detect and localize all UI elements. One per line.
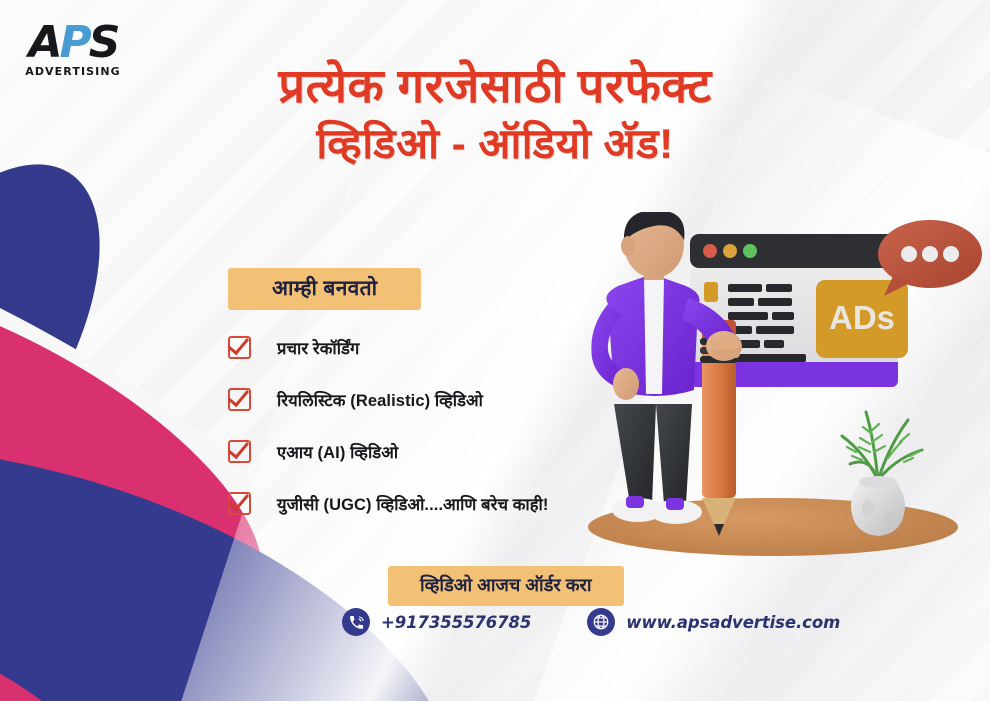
list-item: प्रचार रेकॉर्डिंग xyxy=(228,334,608,360)
offer-badge: आम्ही बनवतो xyxy=(228,268,421,310)
illustration-3d-scene: ADs xyxy=(578,212,990,552)
feature-label: रियलिस्टिक (Realistic) व्हिडिओ xyxy=(277,388,483,411)
ads-panel-label: ADs xyxy=(829,299,895,336)
logo-wordmark: APS xyxy=(18,22,128,64)
contact-website[interactable]: www.apsadvertise.com xyxy=(587,608,840,636)
logo-letter-p: P xyxy=(60,17,89,68)
poster-canvas: APS ADVERTISING प्रत्येक गरजेसाठी परफेक्… xyxy=(0,0,990,701)
aps-logo: APS ADVERTISING xyxy=(18,22,128,78)
feature-label: एआय (AI) व्हिडिओ xyxy=(277,440,398,463)
offer-block: आम्ही बनवतो प्रचार रेकॉर्डिंग रियलिस्टिक… xyxy=(228,268,608,542)
list-item: युजीसी (UGC) व्हिडिओ....आणि बरेच काही! xyxy=(228,490,608,516)
order-now-button[interactable]: व्हिडिओ आजच ऑर्डर करा xyxy=(388,566,624,606)
feature-label: युजीसी (UGC) व्हिडिओ....आणि बरेच काही! xyxy=(277,492,549,515)
feature-label: प्रचार रेकॉर्डिंग xyxy=(277,336,359,359)
checkmark-icon xyxy=(228,492,251,515)
contact-phone[interactable]: +917355576785 xyxy=(342,608,531,636)
headline-block: प्रत्येक गरजेसाठी परफेक्ट व्हिडिओ - ऑडिय… xyxy=(0,58,990,170)
phone-icon xyxy=(342,608,370,636)
checkmark-icon xyxy=(228,336,251,359)
website-url: www.apsadvertise.com xyxy=(626,613,840,632)
headline-line-2: व्हिडिओ - ऑडियो अ‍ॅड! xyxy=(0,119,990,169)
logo-letter-a: A xyxy=(28,17,59,68)
list-item: एआय (AI) व्हिडिओ xyxy=(228,438,608,464)
speech-bubble-graphic xyxy=(878,220,982,296)
contact-row: +917355576785 www.apsadvertise.com xyxy=(342,608,840,636)
checkmark-icon xyxy=(228,440,251,463)
headline-line-1: प्रत्येक गरजेसाठी परफेक्ट xyxy=(0,58,990,113)
cta-block: व्हिडिओ आजच ऑर्डर करा xyxy=(388,566,624,606)
logo-subtitle: ADVERTISING xyxy=(18,65,128,78)
plant-vase-graphic xyxy=(842,412,922,536)
logo-letter-s: S xyxy=(89,17,118,68)
globe-icon xyxy=(587,608,615,636)
phone-number: +917355576785 xyxy=(381,613,531,632)
feature-list: प्रचार रेकॉर्डिंग रियलिस्टिक (Realistic)… xyxy=(228,334,608,516)
checkmark-icon xyxy=(228,388,251,411)
list-item: रियलिस्टिक (Realistic) व्हिडिओ xyxy=(228,386,608,412)
